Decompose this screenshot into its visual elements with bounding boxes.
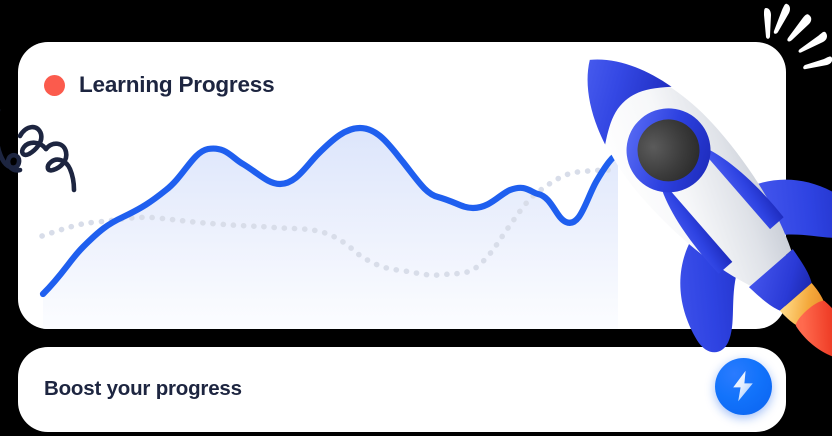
status-dot: [44, 75, 65, 96]
speed-lines-decoration: [752, 2, 832, 82]
screenshot-stage: Learning Progress Boost your progress: [0, 0, 832, 436]
chart-area-fill: [43, 128, 618, 329]
progress-card-header: Learning Progress: [44, 72, 274, 98]
squiggle-decoration: [0, 106, 92, 198]
fab-halo: [706, 349, 780, 423]
page-title: Learning Progress: [79, 72, 274, 98]
boost-card-title: Boost your progress: [44, 377, 242, 401]
boost-action-button[interactable]: [715, 358, 772, 415]
lightning-bolt-icon: [730, 370, 756, 402]
